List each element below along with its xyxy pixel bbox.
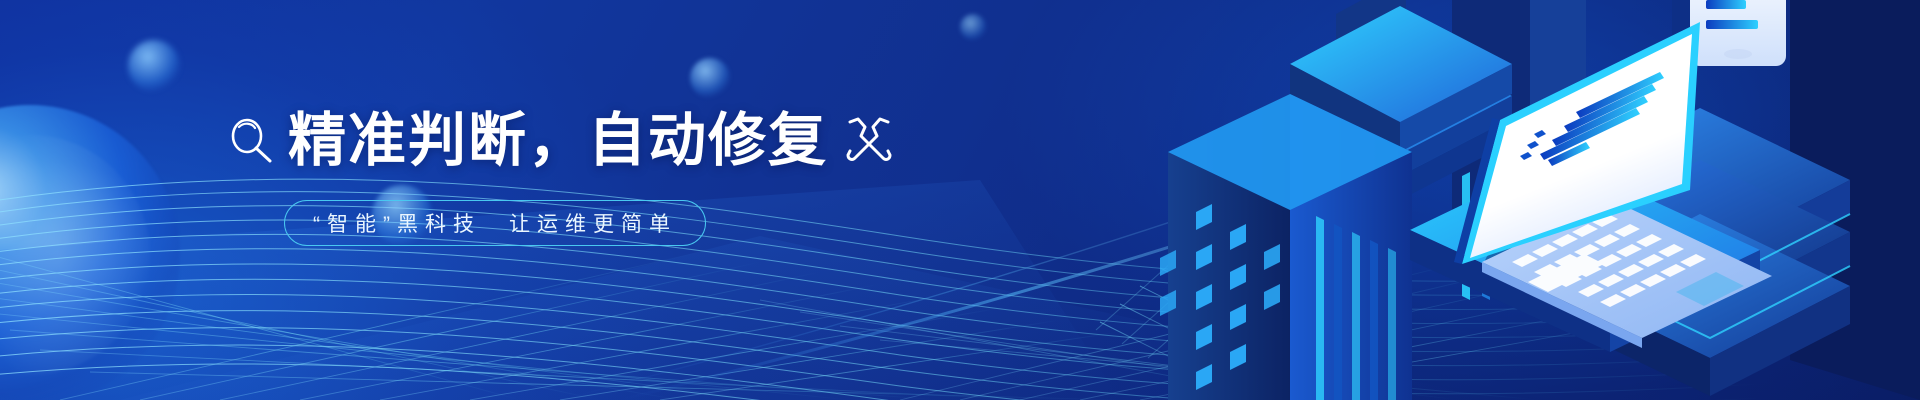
wrench-icon — [842, 114, 896, 168]
banner-headline: 精准判断，自动修复 — [288, 112, 828, 170]
banner-subtitle: “智能”黑科技 让运维更简单 — [313, 208, 677, 238]
headline-row: 精准判断，自动修复 — [228, 104, 848, 178]
subtitle-pill: “智能”黑科技 让运维更简单 — [284, 200, 706, 246]
hero-banner: 精准判断，自动修复 “智能”黑科技 让运维更简单 — [0, 0, 1920, 400]
magnifier-icon — [228, 116, 274, 166]
banner-copy: 精准判断，自动修复 “智能”黑科技 让运维更简单 — [228, 104, 848, 246]
